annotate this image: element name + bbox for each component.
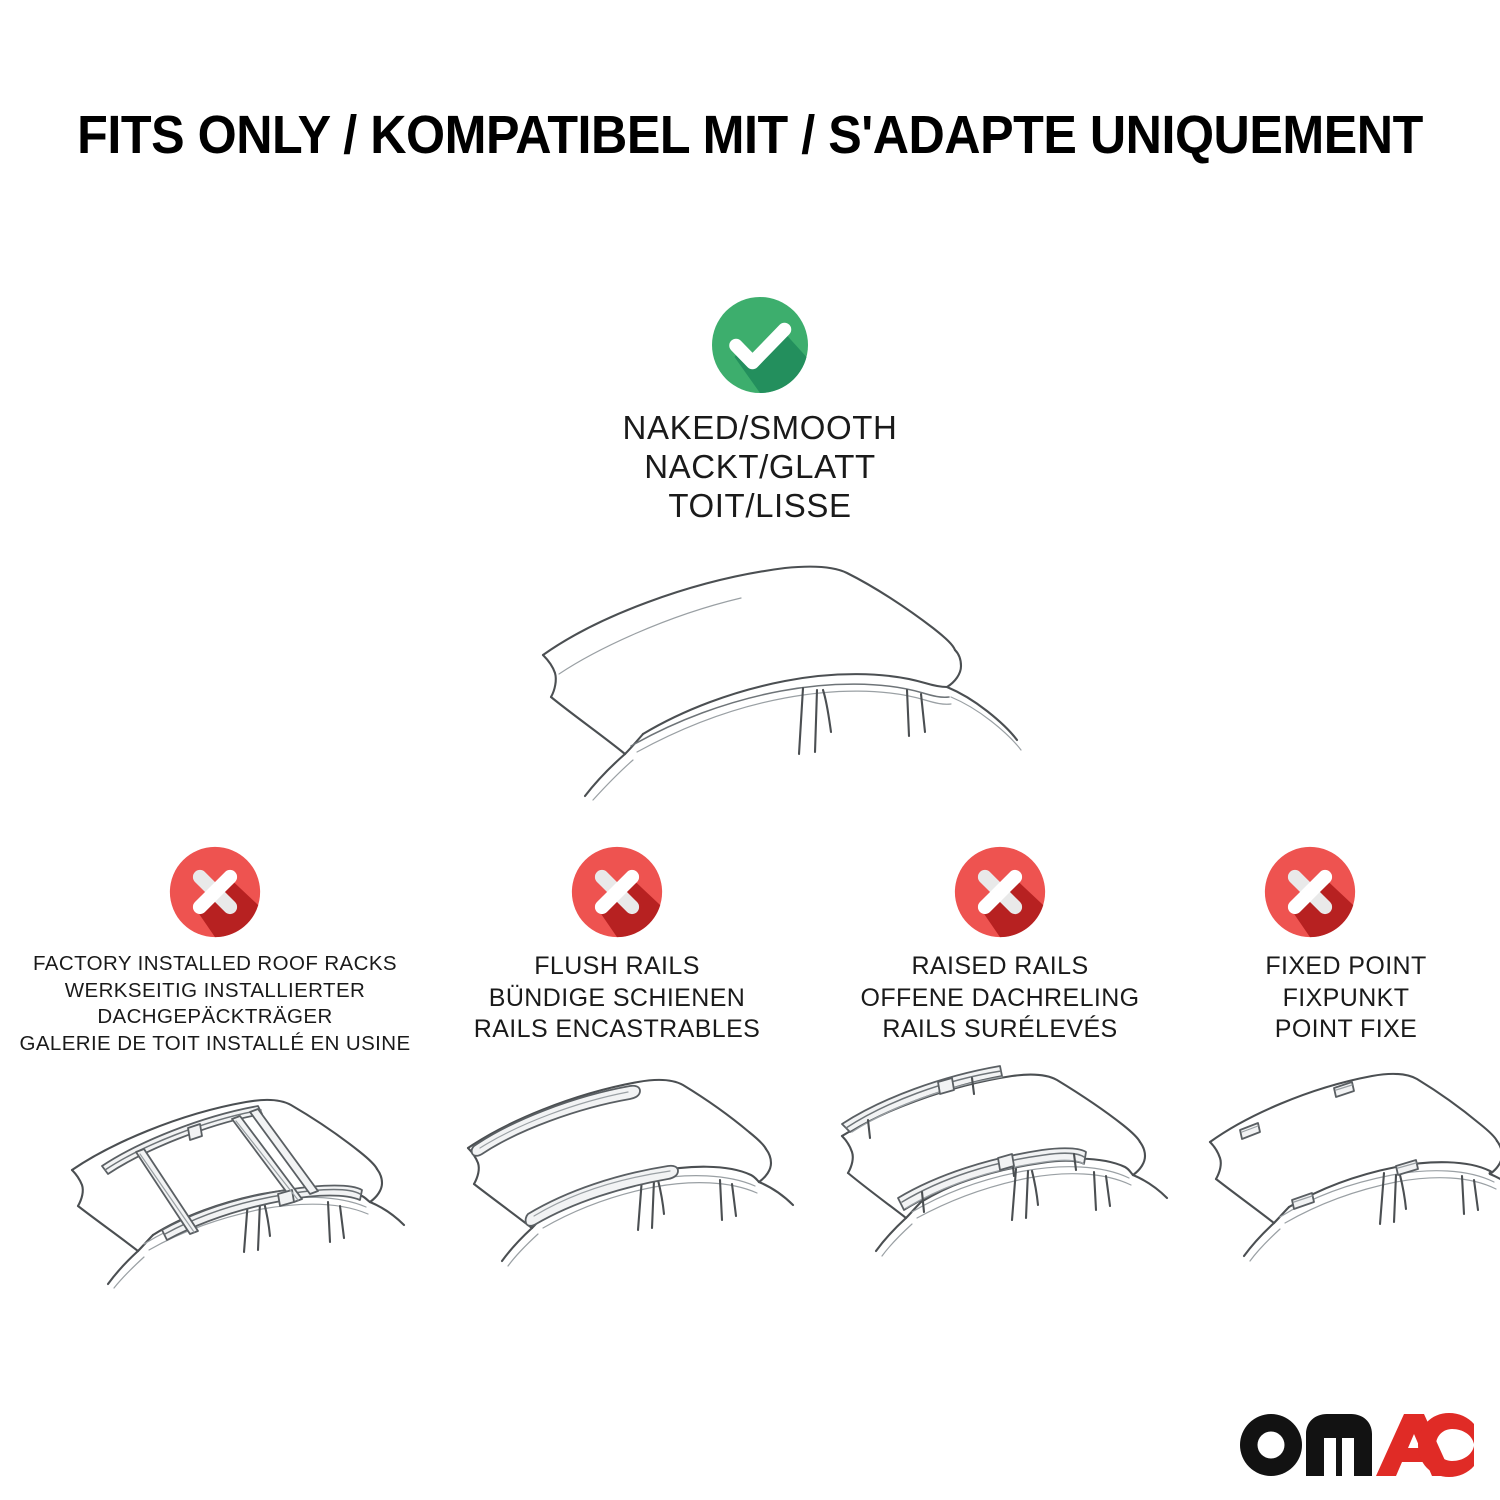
caption-raised-rails: RAISED RAILS OFFENE DACHRELING RAILS SUR… bbox=[812, 951, 1188, 1046]
label-en: FACTORY INSTALLED ROOF RACKS bbox=[10, 951, 420, 978]
allowed-label-fr: TOIT/LISSE bbox=[455, 487, 1065, 526]
caption-factory-installed-roof-racks: FACTORY INSTALLED ROOF RACKS WERKSEITIG … bbox=[10, 951, 420, 1058]
label-fr: RAILS ENCASTRABLES bbox=[432, 1014, 802, 1046]
allowed-caption: NAKED/SMOOTH NACKT/GLATT TOIT/LISSE bbox=[455, 409, 1065, 526]
label-de: BÜNDIGE SCHIENEN bbox=[432, 983, 802, 1015]
car-roof-raised-rails-illustration bbox=[812, 1062, 1188, 1272]
label-de: FIXPUNKT bbox=[1196, 983, 1496, 1015]
x-circle-icon bbox=[168, 845, 262, 939]
caption-fixed-point: FIXED POINT FIXPUNKT POINT FIXE bbox=[1196, 951, 1496, 1046]
car-roof-fixed-point-illustration bbox=[1196, 1062, 1496, 1272]
label-fr: GALERIE DE TOIT INSTALLÉ EN USINE bbox=[10, 1031, 420, 1058]
not-allowed-item-raised-rails: RAISED RAILS OFFENE DACHRELING RAILS SUR… bbox=[812, 845, 1188, 1272]
page-title: FITS ONLY / KOMPATIBEL MIT / S'ADAPTE UN… bbox=[53, 104, 1448, 166]
not-allowed-item-fixed-point: FIXED POINT FIXPUNKT POINT FIXE bbox=[1196, 845, 1496, 1272]
label-fr: POINT FIXE bbox=[1196, 1014, 1496, 1046]
allowed-label-de: NACKT/GLATT bbox=[455, 448, 1065, 487]
allowed-roof-type-block: NAKED/SMOOTH NACKT/GLATT TOIT/LISSE bbox=[455, 295, 1065, 800]
not-allowed-item-factory-installed-roof-racks: FACTORY INSTALLED ROOF RACKS WERKSEITIG … bbox=[10, 845, 420, 1289]
label-en: RAISED RAILS bbox=[812, 951, 1188, 983]
not-allowed-row: FACTORY INSTALLED ROOF RACKS WERKSEITIG … bbox=[0, 845, 1500, 1265]
not-allowed-item-flush-rails: FLUSH RAILS BÜNDIGE SCHIENEN RAILS ENCAS… bbox=[432, 845, 802, 1272]
car-roof-flush-rails-illustration bbox=[432, 1062, 802, 1272]
x-circle-icon bbox=[953, 845, 1047, 939]
omac-logo bbox=[1238, 1410, 1474, 1480]
x-circle-icon bbox=[570, 845, 664, 939]
compatibility-infographic: FITS ONLY / KOMPATIBEL MIT / S'ADAPTE UN… bbox=[0, 0, 1500, 1500]
label-en: FLUSH RAILS bbox=[432, 951, 802, 983]
car-roof-naked-smooth-illustration bbox=[455, 540, 1065, 800]
label-fr: RAILS SURÉLEVÉS bbox=[812, 1014, 1188, 1046]
allowed-label-en: NAKED/SMOOTH bbox=[455, 409, 1065, 448]
label-de-line1: WERKSEITIG INSTALLIERTER bbox=[10, 978, 420, 1005]
caption-flush-rails: FLUSH RAILS BÜNDIGE SCHIENEN RAILS ENCAS… bbox=[432, 951, 802, 1046]
car-roof-factory-installed-racks-illustration bbox=[10, 1074, 420, 1289]
check-circle-icon bbox=[710, 295, 810, 395]
label-de: OFFENE DACHRELING bbox=[812, 983, 1188, 1015]
label-de-line2: DACHGEPÄCKTRÄGER bbox=[10, 1004, 420, 1031]
x-circle-icon bbox=[1263, 845, 1357, 939]
label-en: FIXED POINT bbox=[1196, 951, 1496, 983]
